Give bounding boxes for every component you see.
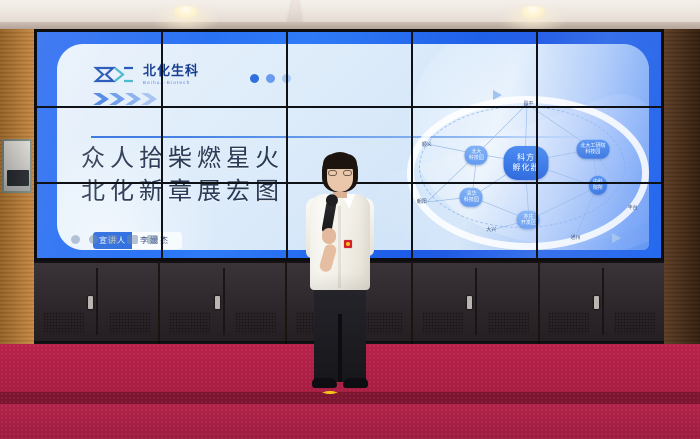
downlight-left [173, 6, 199, 19]
orbit-arrow-top-icon [493, 90, 502, 100]
person-hand [322, 228, 336, 244]
diagram-node-2: 北大工研院 科技园 [576, 140, 609, 159]
person-shoe-right [343, 378, 368, 388]
cabinet-vent [43, 312, 84, 334]
logo-text-block: 北化生科 Beihua-Biotech [143, 65, 199, 85]
cabinet-handle[interactable] [215, 296, 220, 309]
bezel-h-1 [37, 106, 661, 108]
diagram-center-node: 科方 孵化器 [503, 146, 548, 180]
cabinet-handle[interactable] [88, 296, 93, 309]
shirt-placket [338, 206, 341, 288]
cabinet-vent [169, 312, 210, 334]
downlight-right [520, 6, 546, 19]
brand-logo: 北化生科 Beihua-Biotech [93, 64, 199, 85]
player-toolbar[interactable] [71, 235, 158, 244]
diagram-node-1: 清华 科技园 [460, 188, 483, 207]
diagram-city-1: 顺义 [422, 142, 432, 148]
party-emblem-badge [344, 240, 352, 248]
diagram-city-4: 通州 [571, 235, 581, 241]
cabinet-5[interactable] [540, 261, 664, 344]
camera-icon[interactable] [147, 235, 158, 244]
cabinet-4[interactable] [413, 261, 537, 344]
cabinet-vent [235, 312, 276, 334]
cabinet-vent [614, 312, 655, 334]
cabinet-vent [422, 312, 463, 334]
ceiling-edge [0, 22, 700, 29]
play-icon[interactable] [89, 235, 98, 244]
diagram-city-5: 丰台 [628, 205, 638, 211]
diagram-node-3: 中科 院所 [589, 176, 607, 195]
speaker-person [296, 152, 382, 394]
cabinet-1[interactable] [34, 261, 158, 344]
incubator-network-diagram: 科方 孵化器 北大 科技园 清华 科技园 北大工研院 科技园 中科 院所 亦庄 … [397, 92, 645, 242]
logo-mark-icon [93, 64, 137, 85]
glasses-icon [328, 170, 352, 176]
orbit-arrow-bottom-icon [612, 233, 621, 243]
dot-decoration-icon [250, 74, 291, 83]
bezel-v-2 [286, 32, 288, 258]
slide-title: 众人拾柴燃星火 北化新章展宏图 [81, 142, 284, 208]
photo-scene: 北化生科 Beihua-Biotech [0, 0, 700, 439]
bezel-v-4 [536, 32, 538, 258]
slide-title-line-2: 北化新章展宏图 [81, 175, 284, 208]
diagram-city-3: 大兴 [486, 227, 496, 233]
logo-cn-text: 北化生科 [143, 65, 199, 78]
bezel-v-3 [411, 32, 413, 258]
person-pants [314, 288, 366, 382]
right-wood-wall [664, 29, 700, 377]
diagram-node-0: 北大 科技园 [465, 146, 488, 165]
diagram-city-2: 朝阳 [417, 199, 427, 205]
bezel-v-1 [161, 32, 163, 258]
cabinet-vent [548, 312, 589, 334]
logo-en-text: Beihua-Biotech [143, 80, 199, 85]
pen-icon[interactable] [107, 235, 118, 244]
ceiling [0, 0, 700, 30]
cabinet-vent [109, 312, 150, 334]
record-icon[interactable] [71, 235, 80, 244]
cabinet-handle[interactable] [594, 296, 599, 309]
screenshot-icon[interactable] [127, 235, 138, 244]
cabinet-vent [488, 312, 529, 334]
cabinet-2[interactable] [160, 261, 284, 344]
cabinet-handle[interactable] [467, 296, 472, 309]
person-hair-front [323, 154, 357, 169]
slide-title-line-1: 众人拾柴燃星火 [81, 142, 284, 175]
left-wood-wall [0, 29, 34, 377]
control-room-window [2, 139, 32, 193]
person-shoe-left [312, 378, 337, 388]
